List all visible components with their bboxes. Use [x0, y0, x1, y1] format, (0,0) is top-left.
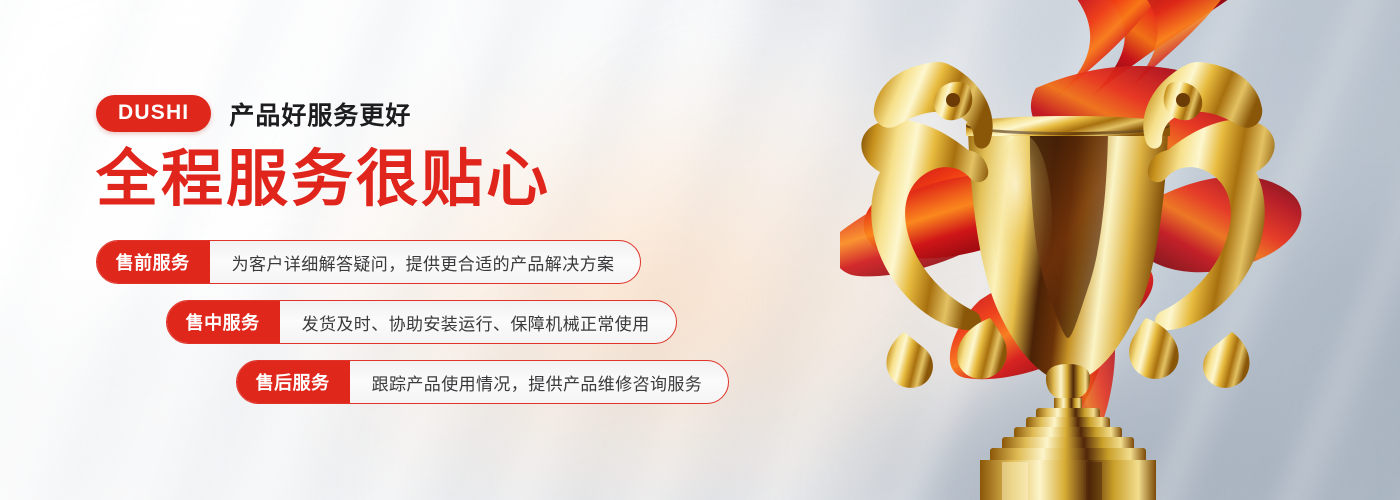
brand-badge: DUSHI — [96, 95, 211, 132]
service-pill: 售前服务 为客户详细解答疑问，提供更合适的产品解决方案 — [96, 240, 641, 284]
service-tag: 售后服务 — [236, 360, 350, 404]
service-promo-banner: DUSHI 产品好服务更好 全程服务很贴心 售前服务 为客户详细解答疑问，提供更… — [0, 0, 1400, 500]
list-item: 售前服务 为客户详细解答疑问，提供更合适的产品解决方案 — [96, 240, 729, 284]
list-item: 售后服务 跟踪产品使用情况，提供产品维修咨询服务 — [236, 360, 729, 404]
service-tag: 售前服务 — [96, 240, 210, 284]
service-pill: 售中服务 发货及时、协助安装运行、保障机械正常使用 — [166, 300, 677, 344]
service-pill: 售后服务 跟踪产品使用情况，提供产品维修咨询服务 — [236, 360, 729, 404]
trophy-artwork — [840, 0, 1360, 500]
service-description: 为客户详细解答疑问，提供更合适的产品解决方案 — [210, 241, 641, 283]
service-tag: 售中服务 — [166, 300, 280, 344]
service-description: 发货及时、协助安装运行、保障机械正常使用 — [280, 301, 676, 343]
page-title: 全程服务很贴心 — [96, 146, 551, 211]
service-list: 售前服务 为客户详细解答疑问，提供更合适的产品解决方案 售中服务 发货及时、协助… — [96, 240, 729, 420]
eyebrow-row: DUSHI 产品好服务更好 — [96, 95, 411, 132]
service-description: 跟踪产品使用情况，提供产品维修咨询服务 — [350, 361, 729, 403]
list-item: 售中服务 发货及时、协助安装运行、保障机械正常使用 — [166, 300, 729, 344]
eyebrow-text: 产品好服务更好 — [229, 96, 411, 132]
banner-content: DUSHI 产品好服务更好 全程服务很贴心 售前服务 为客户详细解答疑问，提供更… — [96, 0, 916, 500]
